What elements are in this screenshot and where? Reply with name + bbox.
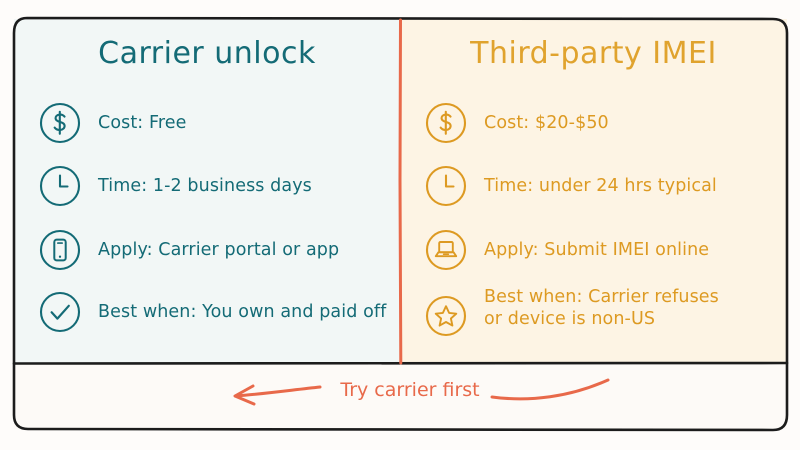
row-bestwhen-carrier: Best when: You own and paid off [38, 290, 388, 334]
clock-icon [38, 164, 82, 208]
row-text: Cost: Free [98, 112, 187, 134]
column-title-third-party-imei: Third-party IMEI [400, 36, 787, 71]
dollar-icon [424, 101, 468, 145]
phone-icon [38, 228, 82, 272]
row-time-carrier: Time: 1-2 business days [38, 164, 388, 208]
row-time-imei: Time: under 24 hrs typical [424, 164, 782, 208]
laptop-icon [424, 228, 468, 272]
infographic-canvas: Carrier unlock Third-party IMEI Cost: Fr… [0, 0, 800, 450]
row-cost-imei: Cost: $20-$50 [424, 101, 782, 145]
dollar-icon [38, 101, 82, 145]
row-bestwhen-imei: Best when: Carrier refuses or device is … [424, 286, 782, 338]
check-icon [38, 290, 82, 334]
row-text: Best when: Carrier refuses or device is … [484, 286, 719, 331]
row-text: Apply: Carrier portal or app [98, 239, 339, 261]
column-title-carrier-unlock: Carrier unlock [14, 36, 400, 71]
row-apply-imei: Apply: Submit IMEI online [424, 228, 782, 272]
star-icon [424, 294, 468, 338]
row-cost-carrier: Cost: Free [38, 101, 388, 145]
row-apply-carrier: Apply: Carrier portal or app [38, 228, 388, 272]
row-text: Cost: $20-$50 [484, 112, 609, 134]
row-text: Time: under 24 hrs typical [484, 175, 717, 197]
row-text: Best when: You own and paid off [98, 301, 386, 323]
clock-icon [424, 164, 468, 208]
row-text: Time: 1-2 business days [98, 175, 312, 197]
row-text: Apply: Submit IMEI online [484, 239, 709, 261]
footer-label: Try carrier first [330, 379, 490, 401]
